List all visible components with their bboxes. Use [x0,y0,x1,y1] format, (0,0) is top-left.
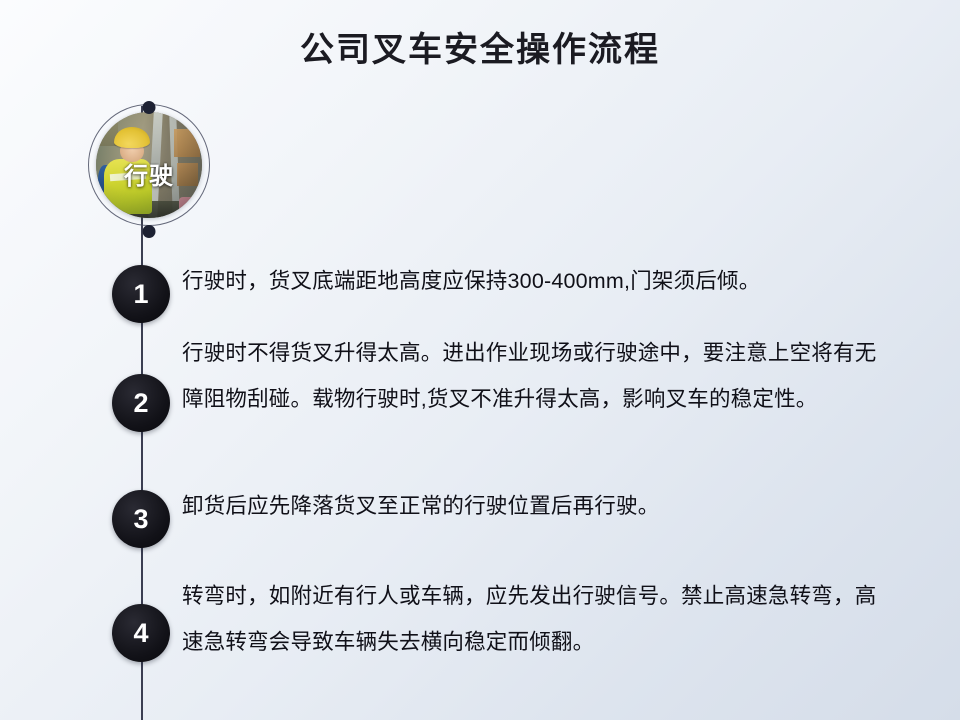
step-text: 卸货后应先降落货叉至正常的行驶位置后再行驶。 [182,483,882,529]
node-dot-top-icon [143,101,156,114]
photo-node-label: 行驶 [88,156,210,191]
node-dot-bottom-icon [143,225,156,238]
page-title: 公司叉车安全操作流程 [0,22,960,71]
step-number-badge: 1 [112,265,170,323]
photo-node[interactable]: 行驶 [88,104,210,226]
step-text: 行驶时，货叉底端距地高度应保持300-400mm,门架须后倾。 [182,258,882,304]
step-number-badge: 3 [112,490,170,548]
step-number-badge: 4 [112,604,170,662]
step-text: 行驶时不得货叉升得太高。进出作业现场或行驶途中，要注意上空将有无障阻物刮碰。载物… [182,330,882,422]
step-text: 转弯时，如附近有行人或车辆，应先发出行驶信号。禁止高速急转弯，高速急转弯会导致车… [182,573,882,665]
step-number-badge: 2 [112,374,170,432]
